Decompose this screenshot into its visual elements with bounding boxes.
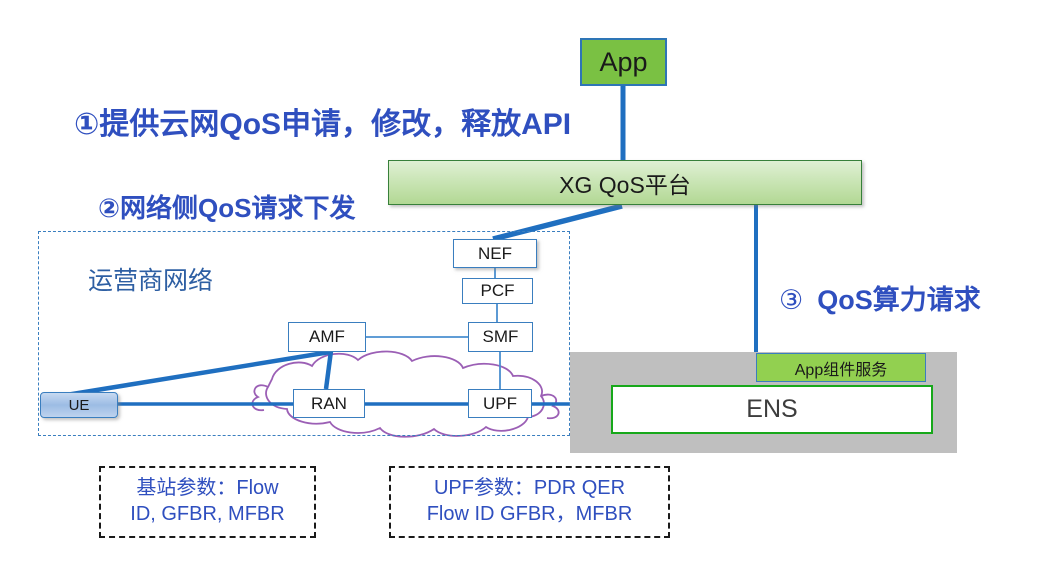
nef-node[interactable]: NEF — [453, 239, 537, 268]
ens-node[interactable]: ENS — [611, 385, 933, 434]
annotation-step-3-marker: ③ — [779, 285, 803, 316]
upf-parameters-callout: UPF参数：PDR QER Flow ID GFBR，MFBR — [389, 466, 670, 538]
annotation-step-2: ②网络侧QoS请求下发 — [98, 188, 355, 225]
ue-node[interactable]: UE — [40, 392, 118, 418]
ran-node[interactable]: RAN — [293, 389, 365, 418]
annotation-step-3-label: QoS算力请求 — [817, 278, 981, 317]
ran-parameters-line-1: 基站参数：Flow — [136, 476, 278, 502]
pcf-node[interactable]: PCF — [462, 278, 533, 304]
upf-parameters-line-2: Flow ID GFBR，MFBR — [427, 502, 633, 528]
upf-parameters-line-1: UPF参数：PDR QER — [434, 476, 625, 502]
smf-node[interactable]: SMF — [468, 322, 533, 352]
ran-parameters-line-2: ID, GFBR, MFBR — [130, 502, 284, 528]
app-component-service-node[interactable]: App组件服务 — [756, 353, 926, 382]
xg-qos-platform-node[interactable]: XG QoS平台 — [388, 160, 862, 205]
qos-architecture-diagram: 运营商网络 App XG QoS平台 NEF PCF SMF AMF RAN U… — [0, 0, 1043, 568]
annotation-step-1: ①提供云网QoS申请，修改，释放API — [74, 99, 571, 143]
annotation-step-3: ③ QoS算力请求 — [779, 278, 981, 317]
app-node[interactable]: App — [580, 38, 667, 86]
operator-network-label: 运营商网络 — [88, 261, 213, 297]
ran-parameters-callout: 基站参数：Flow ID, GFBR, MFBR — [99, 466, 316, 538]
amf-node[interactable]: AMF — [288, 322, 366, 352]
upf-node[interactable]: UPF — [468, 389, 532, 418]
